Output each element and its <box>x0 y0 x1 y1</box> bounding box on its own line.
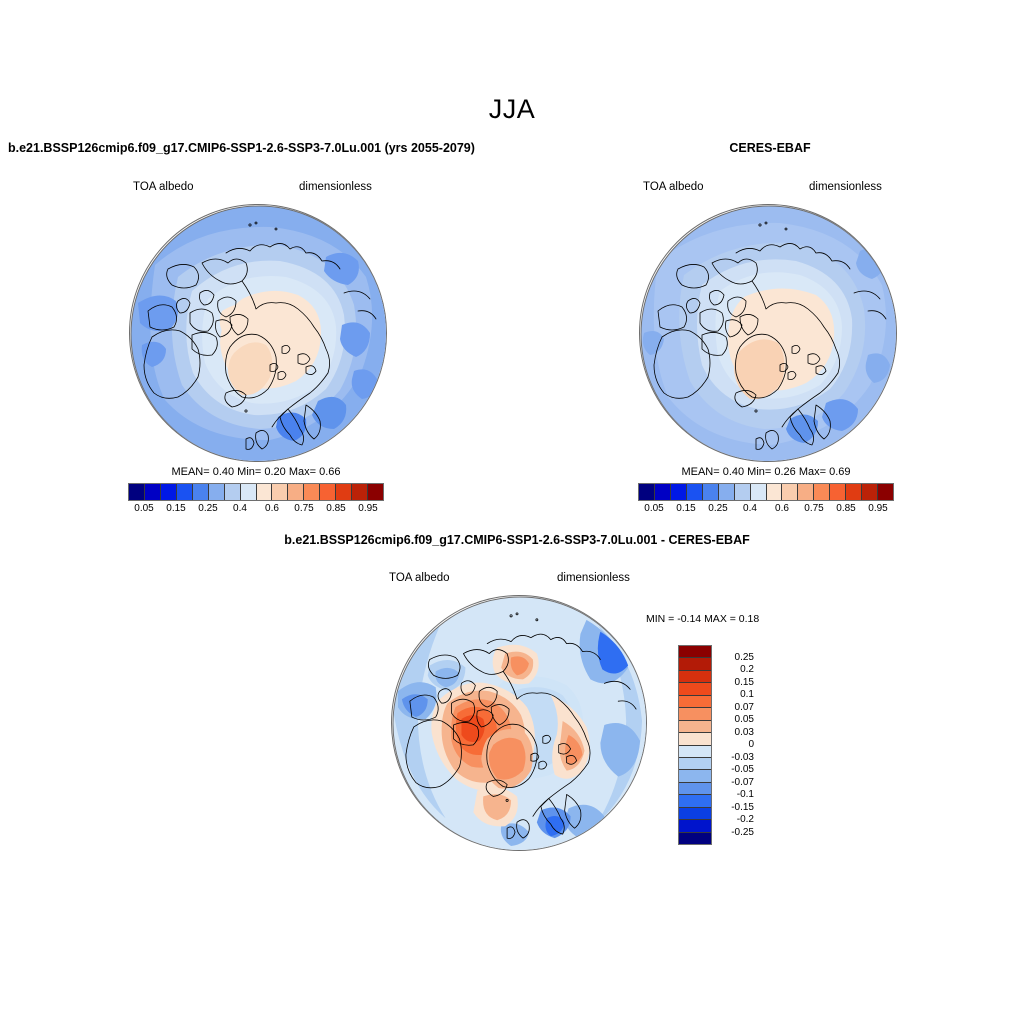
diff-colorbar-tick-3: 0.1 <box>716 690 754 700</box>
colorbar-cell-15 <box>878 484 893 500</box>
diff-colorbar-cell-13 <box>679 808 711 820</box>
diff-colorbar-cell-15 <box>679 833 711 844</box>
diff-map-disc <box>391 595 647 851</box>
colorbar-cell-12 <box>320 484 336 500</box>
colorbar-cell-3 <box>177 484 193 500</box>
diff-colorbar-tick-6: 0.03 <box>716 728 754 738</box>
colorbar-cell-5 <box>719 484 735 500</box>
colorbar-cell-2 <box>671 484 687 500</box>
colorbar-cell-0 <box>129 484 145 500</box>
diff-colorbar-tick-13: -0.2 <box>716 815 754 825</box>
colorbar-tick-1: 0.15 <box>160 503 192 514</box>
colorbar-tick-2: 0.25 <box>192 503 224 514</box>
diff-colorbar-tick-12: -0.15 <box>716 803 754 813</box>
model-map-disc <box>129 204 387 462</box>
diff-colorbar-cell-2 <box>679 671 711 683</box>
colorbar-tick-0: 0.05 <box>638 503 670 514</box>
diff-colorbar-tick-1: 0.2 <box>716 665 754 675</box>
colorbar-cell-7 <box>751 484 767 500</box>
colorbar-cell-3 <box>687 484 703 500</box>
colorbar-cell-1 <box>655 484 671 500</box>
colorbar-cell-6 <box>735 484 751 500</box>
colorbar-tick-1: 0.15 <box>670 503 702 514</box>
diff-colorbar-cell-8 <box>679 746 711 758</box>
colorbar-cell-8 <box>767 484 783 500</box>
obs-map-disc <box>639 204 897 462</box>
diff-colorbar-cell-12 <box>679 795 711 807</box>
diff-colorbar-cell-14 <box>679 820 711 832</box>
colorbar-cell-13 <box>846 484 862 500</box>
diff-colorbar[interactable]: 0.250.20.150.10.070.050.030-0.03-0.05-0.… <box>678 645 712 845</box>
diff-colorbar-cell-7 <box>679 733 711 745</box>
diff-colorbar-cell-3 <box>679 683 711 695</box>
colorbar-cell-14 <box>862 484 878 500</box>
model-colorbar-strip[interactable] <box>128 483 384 501</box>
colorbar-cell-11 <box>814 484 830 500</box>
diff-colorbar-tick-10: -0.07 <box>716 778 754 788</box>
colorbar-tick-4: 0.6 <box>256 503 288 514</box>
diff-colorbar-cell-0 <box>679 646 711 658</box>
colorbar-cell-1 <box>145 484 161 500</box>
model-map[interactable] <box>129 204 387 462</box>
colorbar-tick-5: 0.75 <box>288 503 320 514</box>
diff-panel-title: b.e21.BSSP126cmip6.f09_g17.CMIP6-SSP1-2.… <box>232 533 802 547</box>
diff-colorbar-tick-0: 0.25 <box>716 653 754 663</box>
colorbar-cell-13 <box>336 484 352 500</box>
colorbar-cell-10 <box>288 484 304 500</box>
obs-colorbar-strip[interactable] <box>638 483 894 501</box>
diff-colorbar-labels: 0.250.20.150.10.070.050.030-0.03-0.05-0.… <box>716 645 756 845</box>
colorbar-tick-7: 0.95 <box>352 503 384 514</box>
colorbar-cell-7 <box>241 484 257 500</box>
colorbar-cell-10 <box>798 484 814 500</box>
colorbar-cell-9 <box>272 484 288 500</box>
diff-colorbar-tick-4: 0.07 <box>716 703 754 713</box>
diff-colorbar-tick-11: -0.1 <box>716 790 754 800</box>
model-panel-title: b.e21.BSSP126cmip6.f09_g17.CMIP6-SSP1-2.… <box>8 141 475 155</box>
diff-colorbar-cell-1 <box>679 658 711 670</box>
obs-unit-label: dimensionless <box>809 181 882 193</box>
colorbar-tick-0: 0.05 <box>128 503 160 514</box>
colorbar-cell-11 <box>304 484 320 500</box>
colorbar-cell-4 <box>193 484 209 500</box>
obs-colorbar-ticks: 0.050.150.250.40.60.750.850.95 <box>638 503 894 514</box>
colorbar-tick-3: 0.4 <box>224 503 256 514</box>
diff-unit-label: dimensionless <box>557 572 630 584</box>
colorbar-cell-0 <box>639 484 655 500</box>
colorbar-cell-6 <box>225 484 241 500</box>
colorbar-cell-5 <box>209 484 225 500</box>
colorbar-cell-2 <box>161 484 177 500</box>
diff-colorbar-tick-9: -0.05 <box>716 765 754 775</box>
diff-field-label: TOA albedo <box>389 572 450 584</box>
colorbar-tick-4: 0.6 <box>766 503 798 514</box>
model-colorbar-ticks: 0.050.150.250.40.60.750.850.95 <box>128 503 384 514</box>
model-colorbar[interactable]: 0.050.150.250.40.60.750.850.95 <box>128 483 384 514</box>
obs-stats: MEAN= 0.40 Min= 0.26 Max= 0.69 <box>638 466 894 478</box>
colorbar-cell-15 <box>368 484 383 500</box>
diff-colorbar-cell-9 <box>679 758 711 770</box>
diff-colorbar-tick-14: -0.25 <box>716 828 754 838</box>
colorbar-cell-8 <box>257 484 273 500</box>
diff-colorbar-cell-5 <box>679 708 711 720</box>
model-stats: MEAN= 0.40 Min= 0.20 Max= 0.66 <box>128 466 384 478</box>
diff-colorbar-cell-10 <box>679 770 711 782</box>
colorbar-cell-12 <box>830 484 846 500</box>
colorbar-tick-3: 0.4 <box>734 503 766 514</box>
diff-colorbar-cell-11 <box>679 783 711 795</box>
diff-colorbar-cell-4 <box>679 696 711 708</box>
colorbar-cell-4 <box>703 484 719 500</box>
colorbar-tick-6: 0.85 <box>830 503 862 514</box>
colorbar-tick-5: 0.75 <box>798 503 830 514</box>
obs-colorbar[interactable]: 0.050.150.250.40.60.750.850.95 <box>638 483 894 514</box>
model-field-label: TOA albedo <box>133 181 194 193</box>
diff-colorbar-tick-5: 0.05 <box>716 715 754 725</box>
colorbar-cell-14 <box>352 484 368 500</box>
colorbar-tick-2: 0.25 <box>702 503 734 514</box>
diff-colorbar-tick-2: 0.15 <box>716 678 754 688</box>
diff-map-svg <box>392 596 647 851</box>
obs-map[interactable] <box>639 204 897 462</box>
model-unit-label: dimensionless <box>299 181 372 193</box>
season-title: JJA <box>0 94 1024 125</box>
colorbar-tick-7: 0.95 <box>862 503 894 514</box>
obs-panel-title: CERES-EBAF <box>640 141 900 155</box>
obs-map-svg <box>640 205 897 462</box>
model-map-svg <box>130 205 387 462</box>
diff-colorbar-tick-8: -0.03 <box>716 753 754 763</box>
colorbar-tick-6: 0.85 <box>320 503 352 514</box>
obs-field-label: TOA albedo <box>643 181 704 193</box>
diff-colorbar-tick-7: 0 <box>716 740 754 750</box>
diff-map[interactable] <box>391 595 647 851</box>
diff-colorbar-cell-6 <box>679 721 711 733</box>
colorbar-cell-9 <box>782 484 798 500</box>
diff-colorbar-strip[interactable] <box>678 645 712 845</box>
diff-stats: MIN = -0.14 MAX = 0.18 <box>646 613 759 625</box>
